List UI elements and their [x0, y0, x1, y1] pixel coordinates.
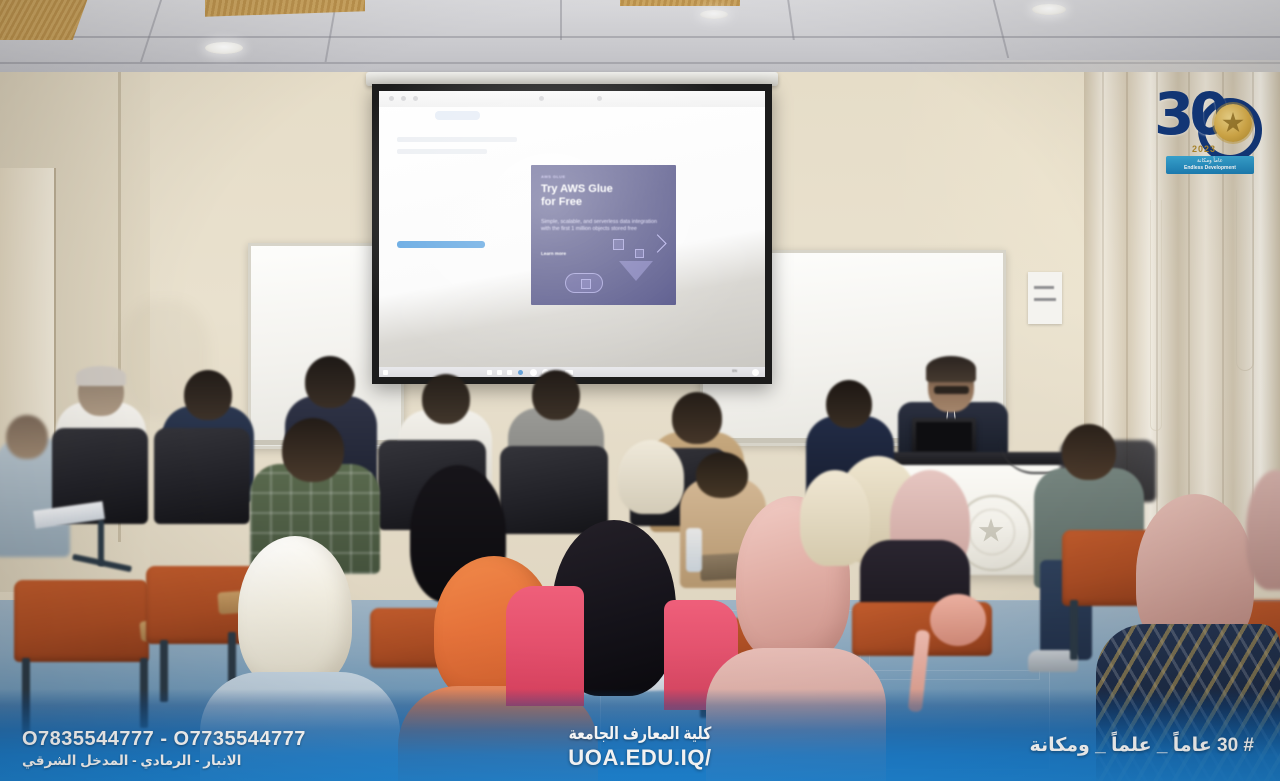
promo-title-line1: Try AWS Glue	[541, 183, 661, 195]
campaign-hashtag: # 30 عاماً _ علماً _ ومكانة	[1029, 734, 1254, 757]
institution-name-arabic: كلية المعارف الجامعة	[115, 724, 1165, 744]
attendee-pink-top	[506, 586, 584, 706]
chair-orange-1[interactable]	[14, 580, 149, 662]
anniversary-logo: 30 2023 عاماً ومكانة Endless Development	[1152, 82, 1270, 174]
node-icon-3	[581, 279, 591, 289]
ceiling	[0, 0, 1280, 78]
logo-ribbon-english: Endless Development	[1184, 165, 1236, 172]
browser-address-bar[interactable]	[435, 111, 480, 120]
projector-wall-cord	[1150, 200, 1162, 431]
ceiling-light-center	[205, 42, 243, 54]
page-highlight-bar	[397, 241, 485, 248]
promo-eyebrow: AWS GLUE	[541, 174, 566, 179]
handbag[interactable]	[930, 594, 986, 646]
eyeglasses-icon	[934, 386, 969, 394]
chair-black-4[interactable]	[500, 446, 608, 534]
promo-title-line2: for Free	[541, 196, 661, 208]
logo-year: 2023	[1192, 144, 1216, 154]
water-bottle[interactable]	[686, 528, 702, 572]
ceiling-light-far	[700, 10, 728, 19]
node-icon-1	[613, 239, 624, 250]
node-icon-2	[635, 249, 644, 258]
logo-number: 30	[1154, 80, 1225, 148]
projected-desktop: AWS GLUE Try AWS Glue for Free Simple, s…	[379, 91, 765, 377]
curtain-cord[interactable]	[1236, 190, 1254, 371]
screenshot-root: AWS GLUE Try AWS Glue for Free Simple, s…	[0, 0, 1280, 781]
promo-cta-link[interactable]: Learn more	[541, 251, 566, 256]
bottom-banner: O7835544777 - O7735544777 الانبار - الرم…	[0, 689, 1280, 781]
university-seal-icon	[1214, 104, 1252, 142]
arrow-up-right-icon	[648, 234, 666, 252]
funnel-icon	[619, 261, 653, 281]
wall-notice-paper	[1028, 272, 1062, 324]
speaker-hair	[926, 356, 976, 382]
logo-ribbon: عاماً ومكانة Endless Development	[1166, 156, 1254, 174]
ceiling-light-right	[1032, 4, 1066, 15]
projection-screen: AWS GLUE Try AWS Glue for Free Simple, s…	[372, 84, 772, 384]
promo-subtitle: Simple, scalable, and serverless data in…	[541, 219, 659, 234]
podium-laptop[interactable]	[912, 418, 976, 456]
browser-chrome	[379, 91, 765, 107]
logo-ribbon-arabic: عاماً ومكانة	[1197, 158, 1223, 165]
aws-glue-promo-card[interactable]: AWS GLUE Try AWS Glue for Free Simple, s…	[531, 165, 676, 305]
chair-black-2[interactable]	[154, 428, 250, 524]
